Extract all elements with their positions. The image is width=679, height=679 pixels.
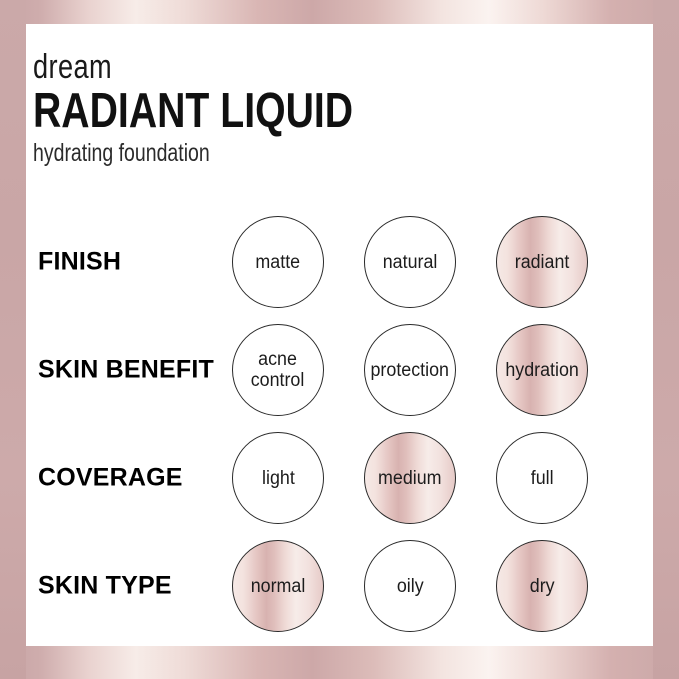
option-track-finish: mattenaturalradiant bbox=[232, 208, 652, 316]
option-full[interactable]: full bbox=[496, 432, 588, 524]
attribute-label-coverage: COVERAGE bbox=[38, 464, 183, 493]
option-label: acnecontrol bbox=[249, 349, 306, 391]
product-tagline: hydrating foundation bbox=[33, 140, 345, 166]
option-label: dry bbox=[528, 576, 557, 597]
option-protection[interactable]: protection bbox=[364, 324, 456, 416]
option-label: hydration bbox=[503, 360, 580, 381]
option-label: oily bbox=[395, 576, 426, 597]
option-acne-control[interactable]: acnecontrol bbox=[232, 324, 324, 416]
attribute-label-skin-type: SKIN TYPE bbox=[38, 572, 172, 601]
option-label: medium bbox=[376, 468, 443, 489]
option-track-skin-type: normaloilydry bbox=[232, 532, 652, 640]
option-label: natural bbox=[381, 252, 439, 273]
option-matte[interactable]: matte bbox=[232, 216, 324, 308]
option-light[interactable]: light bbox=[232, 432, 324, 524]
product-title: RADIANT LIQUID bbox=[33, 86, 353, 136]
option-track-coverage: lightmediumfull bbox=[232, 424, 652, 532]
option-radiant[interactable]: radiant bbox=[496, 216, 588, 308]
option-track-skin-benefit: acnecontrolprotectionhydration bbox=[232, 316, 652, 424]
option-hydration[interactable]: hydration bbox=[496, 324, 588, 416]
frame-border-left bbox=[0, 0, 26, 679]
attribute-row-skin-benefit: SKIN BENEFITacnecontrolprotectionhydrati… bbox=[26, 316, 653, 424]
product-attribute-card: dream RADIANT LIQUID hydrating foundatio… bbox=[0, 0, 679, 679]
brand-header: dream RADIANT LIQUID hydrating foundatio… bbox=[33, 50, 433, 166]
option-oily[interactable]: oily bbox=[364, 540, 456, 632]
brand-prefix: dream bbox=[33, 50, 353, 84]
option-label: radiant bbox=[513, 252, 571, 273]
option-label: light bbox=[260, 468, 297, 489]
option-natural[interactable]: natural bbox=[364, 216, 456, 308]
card-inner-panel: dream RADIANT LIQUID hydrating foundatio… bbox=[26, 24, 653, 646]
attribute-row-finish: FINISHmattenaturalradiant bbox=[26, 208, 653, 316]
attribute-label-skin-benefit: SKIN BENEFIT bbox=[38, 356, 214, 385]
attribute-row-coverage: COVERAGElightmediumfull bbox=[26, 424, 653, 532]
attribute-label-finish: FINISH bbox=[38, 248, 121, 277]
attribute-grid: FINISHmattenaturalradiantSKIN BENEFITacn… bbox=[26, 208, 653, 640]
option-medium[interactable]: medium bbox=[364, 432, 456, 524]
option-label: matte bbox=[254, 252, 302, 273]
option-label: normal bbox=[249, 576, 307, 597]
option-label: protection bbox=[369, 360, 451, 381]
frame-border-right bbox=[653, 0, 679, 679]
attribute-row-skin-type: SKIN TYPEnormaloilydry bbox=[26, 532, 653, 640]
option-normal[interactable]: normal bbox=[232, 540, 324, 632]
option-label: full bbox=[529, 468, 556, 489]
option-dry[interactable]: dry bbox=[496, 540, 588, 632]
